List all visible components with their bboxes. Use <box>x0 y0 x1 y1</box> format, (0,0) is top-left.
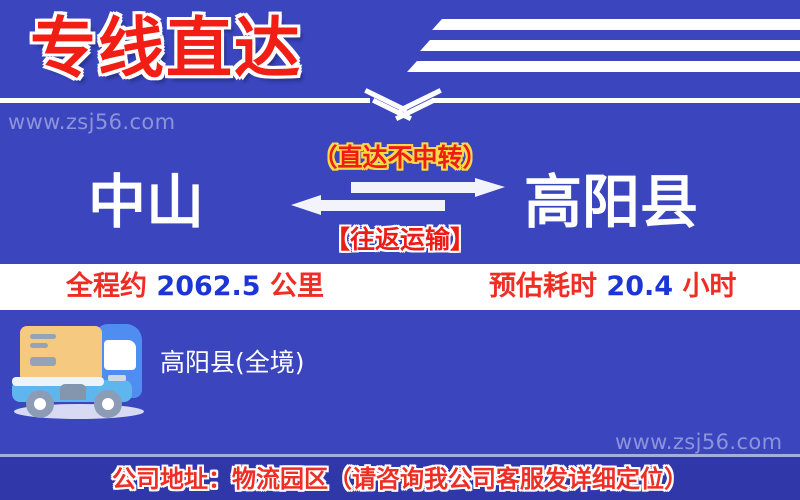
direct-shipping-badge: （直达不中转） <box>0 138 800 174</box>
roundtrip-badge: 【往返运输】 <box>0 220 800 256</box>
coverage-area-label: 高阳县(全境) <box>160 345 305 381</box>
logistics-route-banner: 专线直达 www.zsj56.com www.zsj56.com 中山 高阳县 … <box>0 0 800 500</box>
distance-info: 全程约 2062.5 公里 <box>66 270 324 304</box>
arrow-right-icon <box>351 178 505 197</box>
delivery-truck-icon <box>8 318 150 420</box>
speed-stripe-icon <box>420 40 800 51</box>
route-info-band: 全程约 2062.5 公里 预估耗时 20.4 小时 <box>0 264 800 310</box>
arrow-left-icon <box>291 195 445 215</box>
chevron-down-icon <box>363 88 443 122</box>
duration-value: 20.4 <box>606 271 673 302</box>
header-divider-right <box>432 98 800 103</box>
distance-label: 全程约 <box>66 271 147 302</box>
speed-stripe-icon <box>407 61 800 72</box>
duration-label: 预估耗时 <box>489 271 597 302</box>
distance-unit: 公里 <box>270 271 324 302</box>
duration-info: 预估耗时 20.4 小时 <box>489 270 736 304</box>
speed-stripe-icon <box>432 19 800 30</box>
bidirectional-route-arrows <box>283 178 513 220</box>
distance-value: 2062.5 <box>156 271 260 302</box>
watermark-top-left: www.zsj56.com <box>8 110 176 134</box>
page-title: 专线直达 <box>30 6 302 92</box>
header-divider-left <box>0 98 370 103</box>
company-address-text: 公司地址：物流园区（请咨询我公司客服发详细定位） <box>0 464 800 494</box>
watermark-bottom-right: www.zsj56.com <box>615 430 783 454</box>
duration-unit: 小时 <box>682 271 736 302</box>
